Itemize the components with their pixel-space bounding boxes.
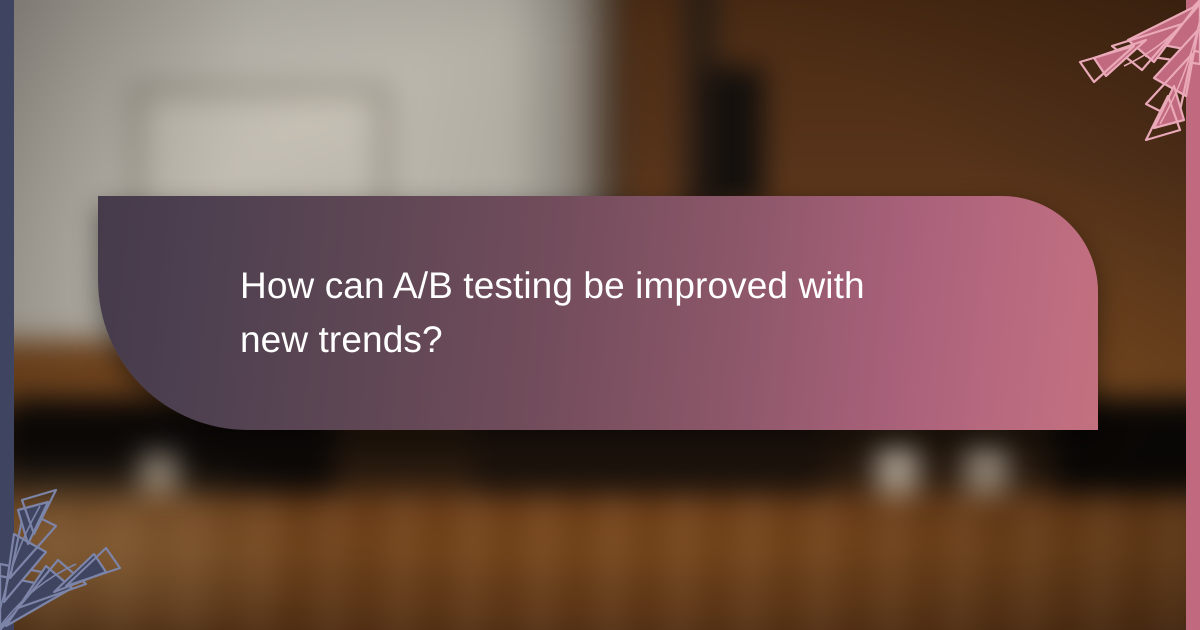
- social-share-card: How can A/B testing be improved with new…: [0, 0, 1200, 630]
- left-edge-strip: [0, 0, 14, 630]
- right-edge-strip: [1186, 0, 1200, 630]
- page-title: How can A/B testing be improved with new…: [98, 259, 1058, 366]
- headline-banner: How can A/B testing be improved with new…: [98, 196, 1098, 430]
